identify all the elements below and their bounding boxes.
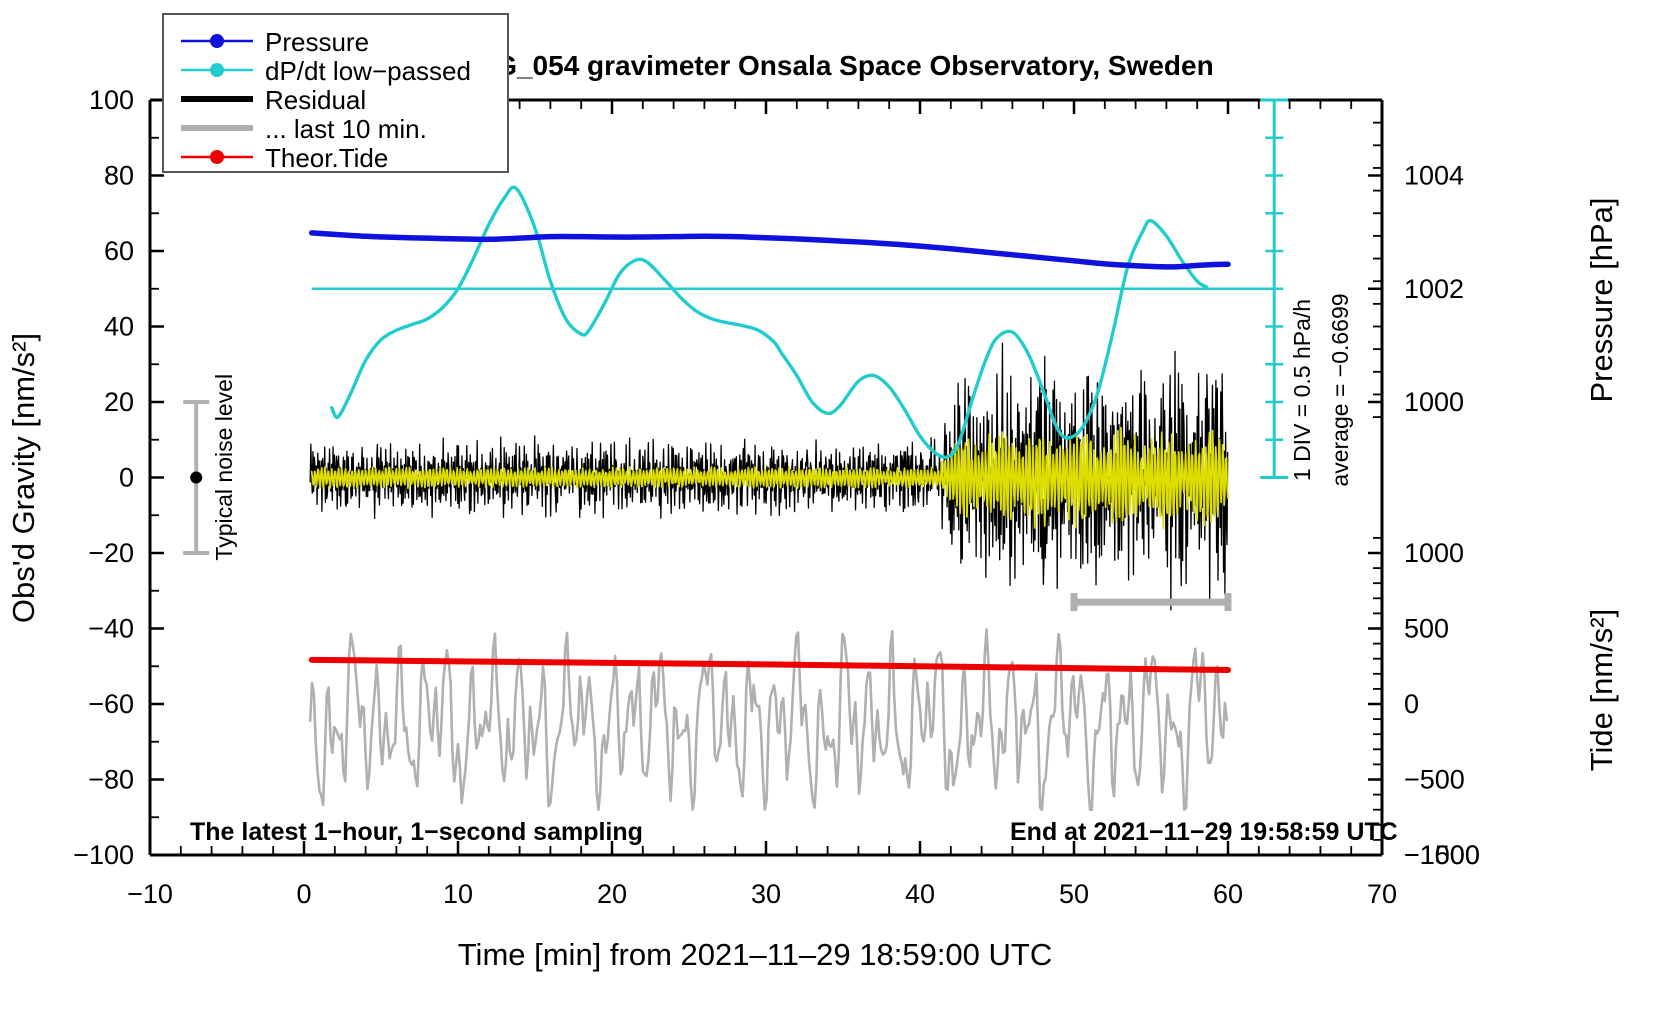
x-axis-title: Time [min] from 2021–11–29 18:59:00 UTC xyxy=(458,937,1052,972)
pressure-ticklabel: 1000 xyxy=(1404,387,1464,417)
y-ticklabel-left: −60 xyxy=(88,689,134,719)
y-ticklabel-left: −80 xyxy=(88,765,134,795)
dpdt-div-label: 1 DIV = 0.5 hPa/h xyxy=(1289,299,1315,481)
tide-ticklabel: 500 xyxy=(1404,614,1449,644)
x-ticklabel: 20 xyxy=(597,879,627,909)
y-ticklabel-left: −40 xyxy=(88,614,134,644)
y-ticklabel-left: 40 xyxy=(104,312,134,342)
noise-center-dot xyxy=(190,472,202,484)
legend-label: dP/dt low−passed xyxy=(265,56,471,86)
footer-left-note: The latest 1−hour, 1−second sampling xyxy=(190,818,643,846)
tide-ticklabel: 1000 xyxy=(1404,538,1464,568)
y-ticklabel-left: 20 xyxy=(104,387,134,417)
y-ticklabel-left: 80 xyxy=(104,161,134,191)
y-ticklabel-left: 100 xyxy=(89,85,134,115)
y-ticklabel-left: −20 xyxy=(88,538,134,568)
x-ticklabel: −10 xyxy=(127,879,173,909)
x-ticklabel: 30 xyxy=(751,879,781,909)
x-ticklabel: 40 xyxy=(905,879,935,909)
tide-ticklabel: 0 xyxy=(1404,689,1419,719)
pressure-ticklabel: 1004 xyxy=(1404,161,1464,191)
legend-label: Theor.Tide xyxy=(265,143,388,173)
pressure-curve xyxy=(312,233,1228,267)
dpdt-average-label: average = −0.6699 xyxy=(1327,293,1353,486)
x-ticklabel: 50 xyxy=(1059,879,1089,909)
legend-swatch-marker xyxy=(210,63,224,77)
x-ticklabel: 0 xyxy=(296,879,311,909)
legend-label: ... last 10 min. xyxy=(265,114,427,144)
gravimeter-chart: 100806040200−20−40−60−80−100−10010203040… xyxy=(0,0,1660,1020)
chart-canvas: 100806040200−20−40−60−80−100−10010203040… xyxy=(0,0,1660,1020)
footer-right-note: End at 2021−11−29 19:58:59 UTC xyxy=(1010,818,1398,846)
pressure-axis-title: Pressure [hPa] xyxy=(1584,197,1619,402)
noise-level-label: Typical noise level xyxy=(211,374,237,561)
chart-title: SCG_054 gravimeter Onsala Space Observat… xyxy=(456,50,1213,81)
legend-label: Residual xyxy=(265,85,366,115)
x-ticklabel: 70 xyxy=(1367,879,1397,909)
tide-ticklabel: −500 xyxy=(1404,765,1465,795)
tide-axis-title: Tide [nm/s²] xyxy=(1584,609,1619,772)
y-axis-title: Obs'd Gravity [nm/s²] xyxy=(6,333,41,623)
y-ticklabel-left: −100 xyxy=(73,840,134,870)
pressure-ticklabel: 1002 xyxy=(1404,274,1464,304)
legend-swatch-marker xyxy=(210,34,224,48)
gray-tide-trace xyxy=(310,629,1227,809)
x-ticklabel: 10 xyxy=(443,879,473,909)
y-ticklabel-left: 0 xyxy=(119,463,134,493)
tide-ticklabel: −1500 xyxy=(1404,840,1480,870)
legend-label: Pressure xyxy=(265,27,369,57)
x-ticklabel: 60 xyxy=(1213,879,1243,909)
legend-swatch-marker xyxy=(210,150,224,164)
y-ticklabel-left: 60 xyxy=(104,236,134,266)
